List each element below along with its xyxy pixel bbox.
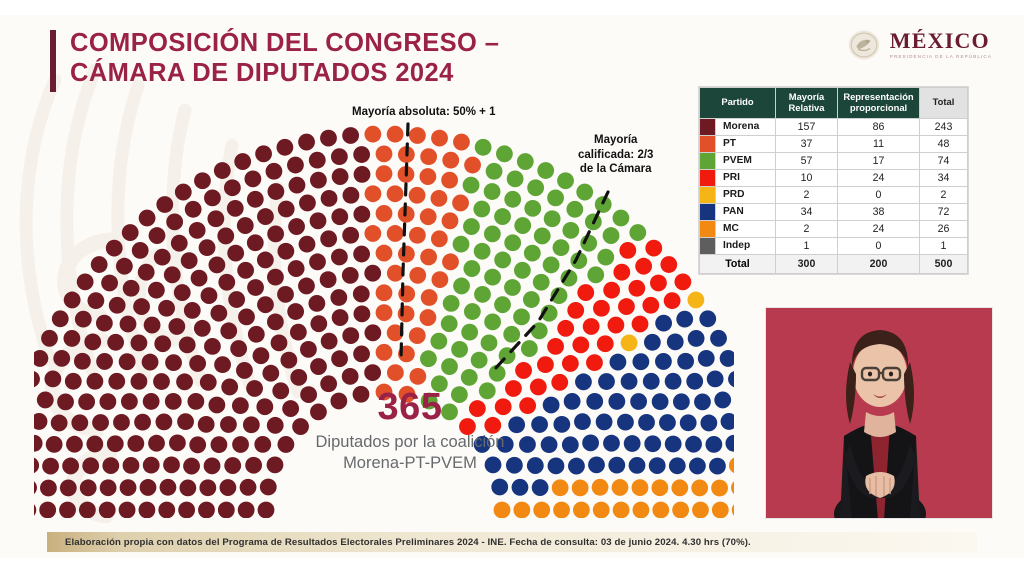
- seat-dot: [164, 266, 181, 283]
- seat-dot: [588, 456, 605, 473]
- seat-dot: [592, 479, 609, 496]
- seat-dot: [431, 230, 448, 247]
- seat-dot: [680, 414, 697, 431]
- seat-dot: [42, 458, 59, 475]
- seat-dot: [650, 275, 667, 292]
- seat-dot: [632, 316, 649, 333]
- seat-dot: [175, 184, 192, 201]
- seat-dot: [342, 227, 359, 244]
- seat-dot: [240, 479, 257, 496]
- seat-dot: [158, 300, 175, 317]
- table-row: Morena15786243: [700, 118, 968, 135]
- seat-dot: [729, 457, 734, 474]
- party-name: MC: [716, 220, 776, 237]
- seat-dot: [643, 373, 660, 390]
- seat-dot: [453, 236, 470, 253]
- seat-dot: [714, 392, 731, 409]
- annotation-qualified-majority: Mayoría calificada: 2/3 de la Cámara: [578, 133, 653, 177]
- party-name: PRD: [716, 186, 776, 203]
- seat-dot: [123, 280, 140, 297]
- seat-dot: [101, 275, 118, 292]
- seat-dot: [34, 457, 39, 474]
- seat-dot: [178, 502, 195, 518]
- seat-dot: [82, 457, 99, 474]
- seat-dot: [299, 236, 316, 253]
- seat-dot: [143, 393, 160, 410]
- seat-dot: [171, 235, 188, 252]
- cell-rp: 17: [838, 152, 920, 169]
- seat-dot: [308, 295, 325, 312]
- seat-dot: [247, 234, 264, 251]
- seat-dot: [96, 315, 113, 332]
- seat-dot: [365, 185, 382, 202]
- seat-dot: [353, 286, 370, 303]
- seat-dot: [247, 279, 264, 296]
- seat-dot: [364, 225, 381, 242]
- seat-dot: [224, 179, 241, 196]
- cell-total: 2: [920, 186, 968, 203]
- annotation-absolute-majority: Mayoría absoluta: 50% + 1: [352, 105, 496, 120]
- seat-dot: [140, 479, 157, 496]
- seat-dot: [491, 479, 508, 496]
- seat-dot: [57, 394, 74, 411]
- seat-dot: [106, 240, 123, 257]
- seat-dot: [149, 227, 166, 244]
- cell-rp: 24: [838, 169, 920, 186]
- seat-dot: [52, 310, 69, 327]
- seat-dot: [142, 354, 159, 371]
- seat-dot: [214, 356, 231, 373]
- seat-dot: [441, 358, 458, 375]
- seat-dot: [633, 502, 650, 518]
- rp-line2: proporcional: [850, 102, 907, 113]
- seat-dot: [353, 206, 370, 223]
- seat-dot: [92, 414, 109, 431]
- seat-dot: [148, 282, 165, 299]
- seat-dot: [34, 502, 36, 518]
- table-footer: Total 300 200 500: [700, 254, 968, 273]
- seat-dot: [165, 354, 182, 371]
- seat-dot: [107, 334, 124, 351]
- seat-dot: [64, 330, 81, 347]
- seat-dot: [179, 480, 196, 497]
- seat-dot: [725, 435, 734, 452]
- seat-dot: [166, 213, 183, 230]
- seat-dot: [260, 479, 277, 496]
- seat-dot: [201, 287, 218, 304]
- seat-dot: [694, 394, 711, 411]
- seat-dot: [298, 134, 315, 151]
- cell-mr: 34: [776, 203, 838, 220]
- party-color-swatch: [700, 237, 716, 254]
- seat-dot: [280, 352, 297, 369]
- seat-dot: [664, 292, 681, 309]
- seat-dot: [691, 480, 708, 497]
- seat-dot: [100, 479, 117, 496]
- column-header-partido: Partido: [700, 88, 776, 119]
- total-row-rp: 200: [838, 254, 920, 273]
- seat-dot: [331, 350, 348, 367]
- table-row: PAN343872: [700, 203, 968, 220]
- seat-dot: [705, 436, 722, 453]
- seat-dot: [309, 253, 326, 270]
- seat-dot: [238, 502, 255, 518]
- stat-number: 365: [250, 388, 570, 426]
- seat-dot: [99, 393, 116, 410]
- seat-dot: [189, 355, 206, 372]
- party-color-swatch: [700, 135, 716, 152]
- seat-dot: [214, 162, 231, 179]
- seat-dot: [78, 393, 95, 410]
- results-table-container: Partido Mayoría Relativa Representación …: [699, 87, 968, 274]
- seat-dot: [51, 415, 68, 432]
- coat-of-arms-icon: [847, 28, 881, 62]
- seat-dot: [732, 502, 734, 518]
- seat-dot: [209, 257, 226, 274]
- seat-dot: [218, 274, 235, 291]
- seat-dot: [113, 414, 130, 431]
- seat-dot: [189, 222, 206, 239]
- seat-dot: [224, 457, 241, 474]
- seat-dot: [153, 373, 170, 390]
- seat-dot: [712, 502, 729, 518]
- seat-dot: [557, 172, 574, 189]
- seat-dot: [119, 502, 136, 518]
- seat-dot: [632, 353, 649, 370]
- seat-dot: [574, 413, 591, 430]
- seat-dot: [674, 273, 691, 290]
- stat-caption: Diputados por la coalición Morena-PT-PVE…: [250, 432, 570, 473]
- seat-dot: [227, 200, 244, 217]
- seat-dot: [107, 435, 124, 452]
- page-title: COMPOSICIÓN DEL CONGRESO – CÁMARA DE DIP…: [50, 28, 499, 92]
- cell-total: 1: [920, 237, 968, 254]
- seat-dot: [220, 322, 237, 339]
- seat-dot: [486, 163, 503, 180]
- seat-dot: [218, 502, 235, 518]
- seat-dot: [652, 502, 669, 518]
- seat-dot: [160, 479, 177, 496]
- seat-dot: [342, 327, 359, 344]
- seat-dot: [220, 416, 237, 433]
- seat-dot: [163, 456, 180, 473]
- seat-dot: [267, 225, 284, 242]
- seat-dot: [300, 341, 317, 358]
- seat-dot: [699, 310, 716, 327]
- party-name: PT: [716, 135, 776, 152]
- seat-dot: [673, 393, 690, 410]
- seat-dot: [287, 157, 304, 174]
- seat-dot: [310, 315, 327, 332]
- seat-dot: [651, 479, 668, 496]
- seat-dot: [582, 434, 599, 451]
- seat-dot: [638, 414, 655, 431]
- seat-dot: [198, 416, 215, 433]
- seat-dot: [277, 243, 294, 260]
- seat-dot: [342, 267, 359, 284]
- logo-wordmark: MÉXICO: [890, 30, 992, 52]
- seat-dot: [709, 458, 726, 475]
- seat-dot: [289, 177, 306, 194]
- seat-dot: [537, 162, 554, 179]
- seat-dot: [342, 127, 359, 144]
- seat-dot: [127, 435, 144, 452]
- seat-dot: [354, 305, 371, 322]
- seat-dot: [342, 368, 359, 385]
- coalition-stat: 365 Diputados por la coalición Morena-PT…: [250, 388, 570, 473]
- table-row: PRI102434: [700, 169, 968, 186]
- seat-dot: [331, 208, 348, 225]
- seat-dot: [237, 262, 254, 279]
- seat-dot: [731, 479, 734, 496]
- seat-dot: [238, 308, 255, 325]
- seat-dot: [266, 163, 283, 180]
- seat-dot: [288, 218, 305, 235]
- party-color-swatch: [700, 186, 716, 203]
- seat-dot: [441, 315, 458, 332]
- seat-dot: [649, 457, 666, 474]
- rp-line1: Representación: [843, 91, 913, 102]
- seat-dot: [442, 212, 459, 229]
- seat-dot: [244, 170, 261, 187]
- seat-dot: [207, 210, 224, 227]
- seat-dot: [461, 324, 478, 341]
- seat-dot: [720, 350, 734, 367]
- seat-dot: [430, 333, 447, 350]
- seat-dot: [247, 191, 264, 208]
- seat-dot: [331, 249, 348, 266]
- seat-dot: [621, 373, 638, 390]
- seat-dot: [34, 479, 37, 496]
- seat-dot: [644, 334, 661, 351]
- seat-dot: [200, 374, 217, 391]
- seat-dot: [443, 295, 460, 312]
- seat-dot: [179, 336, 196, 353]
- seat-dot: [121, 393, 138, 410]
- seat-dot: [255, 145, 272, 162]
- seat-dot: [692, 502, 709, 518]
- seat-dot: [165, 393, 182, 410]
- seat-dot: [710, 330, 727, 347]
- seat-dot: [194, 320, 211, 337]
- seat-dot: [621, 335, 638, 352]
- seat-dot: [320, 271, 337, 288]
- seat-dot: [204, 457, 221, 474]
- seat-dot: [53, 350, 70, 367]
- cell-total: 243: [920, 118, 968, 135]
- seat-dot: [660, 256, 677, 273]
- seat-dot: [41, 330, 58, 347]
- seat-dot: [44, 370, 61, 387]
- title-text: COMPOSICIÓN DEL CONGRESO – CÁMARA DE DIP…: [70, 28, 499, 88]
- cell-total: 26: [920, 220, 968, 237]
- logo-subtitle: PRESIDENCIA DE LA REPÚBLICA: [890, 55, 992, 60]
- seat-dot: [676, 311, 693, 328]
- seat-dot: [120, 479, 137, 496]
- seat-dot: [624, 435, 641, 452]
- seat-dot: [586, 393, 603, 410]
- seat-dot: [642, 297, 659, 314]
- seat-dot: [332, 168, 349, 185]
- seat-dot: [310, 212, 327, 229]
- seat-dot: [262, 365, 279, 382]
- seat-dot: [644, 435, 661, 452]
- seat-dot: [87, 373, 104, 390]
- seat-dot: [686, 373, 703, 390]
- seat-dot: [185, 201, 202, 218]
- party-color-swatch: [700, 220, 716, 237]
- table-row: Indep101: [700, 237, 968, 254]
- seat-dot: [441, 172, 458, 189]
- seat-dot: [628, 280, 645, 297]
- seat-dot: [364, 126, 381, 143]
- seat-dot: [62, 458, 79, 475]
- seat-dot: [64, 292, 81, 309]
- seat-dot: [464, 303, 481, 320]
- qualified-majority-dashed-line: [480, 188, 620, 378]
- seat-dot: [596, 413, 613, 430]
- seat-dot: [139, 210, 156, 227]
- seat-dot: [139, 502, 156, 518]
- party-results-table: Partido Mayoría Relativa Representación …: [699, 87, 968, 274]
- seat-dot: [659, 414, 676, 431]
- total-row-mr: 300: [776, 254, 838, 273]
- seat-dot: [635, 258, 652, 275]
- seat-dot: [232, 436, 249, 453]
- seat-dot: [108, 373, 125, 390]
- seat-dot: [211, 436, 228, 453]
- seat-dot: [593, 502, 610, 518]
- seat-dot: [613, 502, 630, 518]
- seat-dot: [174, 284, 191, 301]
- seat-dot: [603, 435, 620, 452]
- seat-dot: [431, 130, 448, 147]
- seat-dot: [184, 302, 201, 319]
- cell-rp: 0: [838, 186, 920, 203]
- seat-dot: [453, 278, 470, 295]
- seat-dot: [475, 139, 492, 156]
- seat-dot: [655, 315, 672, 332]
- seat-dot: [632, 479, 649, 496]
- seat-dot: [354, 166, 371, 183]
- seat-dot: [65, 373, 82, 390]
- seat-dot: [288, 260, 305, 277]
- seat-dot: [321, 190, 338, 207]
- seat-dot: [533, 502, 550, 518]
- seat-dot: [707, 370, 724, 387]
- seat-dot: [253, 347, 270, 364]
- column-header-total: Total: [920, 88, 968, 119]
- seat-dot: [46, 436, 63, 453]
- seat-dot: [257, 296, 274, 313]
- cell-total: 34: [920, 169, 968, 186]
- table-body: Morena15786243PT371148PVEM571774PRI10243…: [700, 118, 968, 254]
- seat-dot: [86, 436, 103, 453]
- seat-dot: [698, 350, 715, 367]
- mr-line1: Mayoría: [789, 91, 824, 102]
- seat-dot: [258, 502, 275, 518]
- table-header: Partido Mayoría Relativa Representación …: [700, 88, 968, 119]
- seat-dot: [321, 333, 338, 350]
- seat-dot: [221, 379, 238, 396]
- party-name: Morena: [716, 118, 776, 135]
- seat-dot: [158, 502, 175, 518]
- seat-dot: [721, 413, 734, 430]
- seat-dot: [672, 502, 689, 518]
- seat-dot: [687, 292, 704, 309]
- seat-dot: [194, 172, 211, 189]
- seat-dot: [199, 479, 216, 496]
- seat-dot: [532, 479, 549, 496]
- seat-dot: [387, 364, 404, 381]
- seat-dot: [80, 479, 97, 496]
- cell-rp: 11: [838, 135, 920, 152]
- seat-dot: [431, 190, 448, 207]
- seat-dot: [353, 346, 370, 363]
- seat-dot: [204, 190, 221, 207]
- seat-dot: [298, 278, 315, 295]
- seat-dot: [189, 436, 206, 453]
- seat-dot: [204, 338, 221, 355]
- cell-mr: 10: [776, 169, 838, 186]
- seat-dot: [299, 195, 316, 212]
- seat-dot: [96, 353, 113, 370]
- party-name: Indep: [716, 237, 776, 254]
- absolute-majority-dashed-line: [390, 122, 430, 362]
- cell-rp: 86: [838, 118, 920, 135]
- seat-dot: [227, 245, 244, 262]
- seat-dot: [109, 297, 126, 314]
- seat-dot: [677, 353, 694, 370]
- cell-total: 48: [920, 135, 968, 152]
- seat-dot: [343, 187, 360, 204]
- seat-dot: [442, 152, 459, 169]
- seat-dot: [442, 253, 459, 270]
- presentation-slide: COMPOSICIÓN DEL CONGRESO – CÁMARA DE DIP…: [0, 0, 1024, 576]
- seat-dot: [409, 368, 426, 385]
- seat-dot: [187, 393, 204, 410]
- seat-dot: [199, 239, 216, 256]
- seat-dot: [655, 353, 672, 370]
- mexico-logo: MÉXICO PRESIDENCIA DE LA REPÚBLICA: [847, 28, 992, 62]
- seat-dot: [217, 228, 234, 245]
- seat-dot: [131, 335, 148, 352]
- seat-dot: [230, 340, 247, 357]
- seat-dot: [688, 330, 705, 347]
- column-header-mayoria-relativa: Mayoría Relativa: [776, 88, 838, 119]
- party-name: PVEM: [716, 152, 776, 169]
- total-row-label: Total: [700, 254, 776, 273]
- seat-dot: [34, 413, 47, 430]
- seat-dot: [463, 177, 480, 194]
- party-color-swatch: [700, 169, 716, 186]
- seat-dot: [122, 224, 139, 241]
- seat-dot: [39, 502, 56, 518]
- seat-dot: [689, 458, 706, 475]
- cell-total: 72: [920, 203, 968, 220]
- seat-dot: [645, 240, 662, 257]
- seat-dot: [237, 217, 254, 234]
- seat-dot: [66, 436, 83, 453]
- seat-dot: [154, 335, 171, 352]
- seat-dot: [267, 313, 284, 330]
- seat-dot: [34, 371, 40, 388]
- seat-dot: [132, 242, 149, 259]
- seat-dot: [208, 397, 225, 414]
- seat-dot: [608, 393, 625, 410]
- sign-language-interpreter-inset: [765, 307, 993, 519]
- seat-dot: [331, 148, 348, 165]
